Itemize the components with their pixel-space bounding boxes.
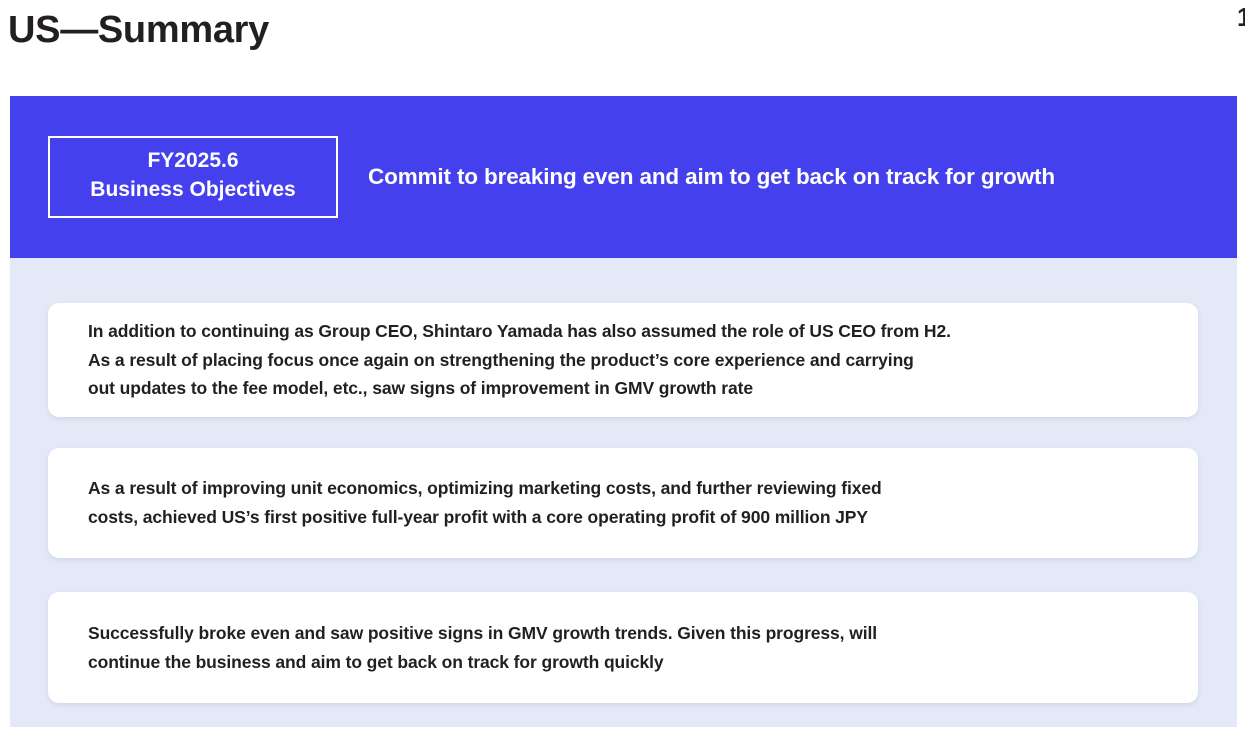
card-line: Successfully broke even and saw positive… (88, 619, 1198, 648)
banner-headline: Commit to breaking even and aim to get b… (368, 164, 1055, 190)
summary-card: In addition to continuing as Group CEO, … (48, 303, 1198, 417)
banner-content: FY2025.6 Business Objectives Commit to b… (10, 96, 1237, 258)
objectives-banner: FY2025.6 Business Objectives Commit to b… (10, 96, 1237, 258)
card-line: As a result of improving unit economics,… (88, 474, 1198, 503)
summary-card: Successfully broke even and saw positive… (48, 592, 1198, 703)
card-line: continue the business and aim to get bac… (88, 648, 1198, 677)
page-title: US—Summary (8, 2, 269, 58)
summary-card: As a result of improving unit economics,… (48, 448, 1198, 558)
page-number: 1 (1237, 6, 1245, 28)
fy-objectives-box: FY2025.6 Business Objectives (48, 136, 338, 218)
business-objectives-label: Business Objectives (56, 176, 330, 205)
card-line: costs, achieved US’s first positive full… (88, 503, 1198, 532)
card-line: As a result of placing focus once again … (88, 346, 1198, 375)
card-line: out updates to the fee model, etc., saw … (88, 374, 1198, 403)
card-line: In addition to continuing as Group CEO, … (88, 317, 1198, 346)
fiscal-year-label: FY2025.6 (56, 147, 330, 176)
